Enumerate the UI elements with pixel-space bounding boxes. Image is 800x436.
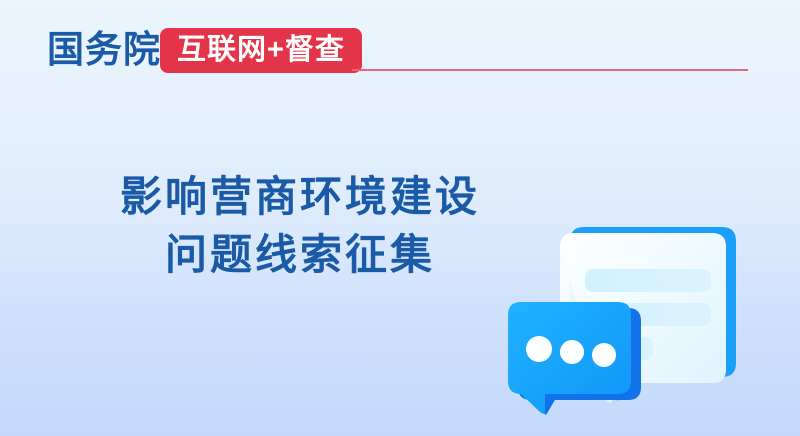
front-bubble [508, 302, 641, 415]
header-divider-rule [352, 69, 748, 71]
back-bubble-content-bar-1 [585, 269, 711, 292]
front-bubble-dot-2 [560, 340, 584, 364]
banner-header: 国务院 互联网+督查 [0, 0, 800, 90]
program-badge: 互联网+督查 [160, 28, 362, 73]
organization-name: 国务院 [47, 28, 161, 72]
chat-bubbles-svg [480, 205, 780, 436]
banner: 国务院 互联网+督查 影响营商环境建设 问题线索征集 [0, 0, 800, 436]
front-bubble-dot-3 [592, 343, 616, 367]
front-bubble-dot-1 [526, 336, 552, 362]
chat-bubbles-illustration [480, 205, 780, 436]
program-badge-label: 互联网+督查 [177, 36, 345, 65]
